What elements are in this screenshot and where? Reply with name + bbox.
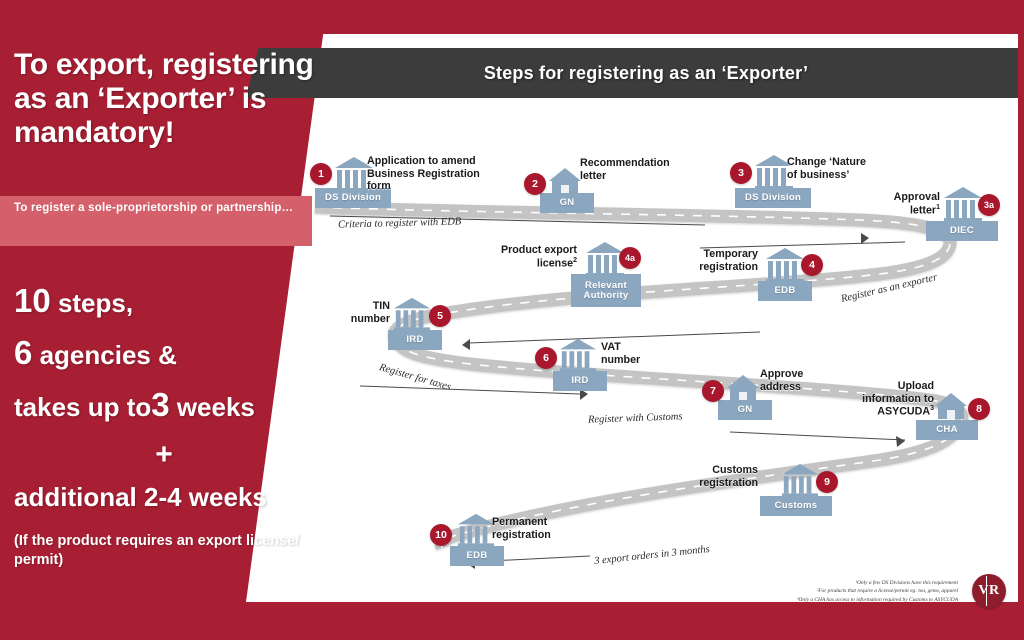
diagram-title-bar: Steps for registering as an ‘Exporter’	[246, 48, 1018, 98]
agency-box-customs: Customs	[760, 496, 832, 516]
agency-box-cha: CHA	[916, 420, 978, 440]
footnotes: ¹Only a few DS Divisions have this requi…	[797, 579, 958, 604]
step-badge-3a: 3a	[978, 194, 1000, 216]
step-badge-6: 6	[535, 347, 557, 369]
stats-block: 10 steps, 6 agencies & takes up to3 week…	[14, 282, 334, 527]
pink-band-text: To register a sole-proprietorship or par…	[14, 200, 304, 216]
step-label-6: VAT number	[601, 341, 661, 366]
step-badge-2: 2	[524, 173, 546, 195]
stat-agencies: 6 agencies &	[14, 334, 334, 372]
footnote-ref-3: 3	[930, 405, 934, 412]
footnote-2: ²For products that require a license/per…	[797, 587, 958, 595]
logo-divider	[986, 576, 987, 606]
step-badge-8: 8	[968, 398, 990, 420]
step-badge-7: 7	[702, 380, 724, 402]
step-label-3: Change ‘Nature of business’	[787, 156, 897, 181]
stat-agencies-number: 6	[14, 334, 32, 371]
stat-steps-number: 10	[14, 282, 51, 319]
house-icon	[934, 392, 968, 422]
step-label-9: Customs registration	[678, 464, 758, 489]
classical-building-icon	[780, 462, 820, 500]
step-label-4: Temporary registration	[680, 248, 758, 273]
page-title: Steps for registering as an ‘Exporter’	[484, 63, 808, 84]
left-red-panel: To export, registering as an ‘Exporter’ …	[0, 0, 330, 640]
step-label-3a: Approval letter1	[874, 191, 940, 217]
stat-duration-prefix: takes up to	[14, 392, 151, 422]
classical-building-icon	[456, 512, 496, 550]
vr-logo: VR	[972, 574, 1006, 608]
step-label-2: Recommendation letter	[580, 157, 690, 182]
agency-box-ird-6: IRD	[553, 371, 607, 391]
step-badge-9: 9	[816, 471, 838, 493]
step-label-5: TIN number	[332, 300, 390, 325]
agency-box-ds-division-3: DS Division	[735, 188, 811, 208]
agency-box-edb-10: EDB	[450, 546, 504, 566]
stat-steps-word: steps,	[51, 288, 133, 318]
step-badge-5: 5	[429, 305, 451, 327]
step-label-4a: Product export license2	[485, 244, 577, 270]
footnote-ref-2: 2	[573, 257, 577, 264]
footnote-3: ³Only a CHA has access to information re…	[797, 596, 958, 604]
step-badge-4: 4	[801, 254, 823, 276]
step-badge-3: 3	[730, 162, 752, 184]
agency-box-diec: DIEC	[926, 221, 998, 241]
classical-building-icon	[392, 296, 432, 334]
agency-box-edb-4: EDB	[758, 281, 812, 301]
headline: To export, registering as an ‘Exporter’ …	[14, 48, 314, 151]
step-label-1: Application to amend Business Registrati…	[367, 155, 487, 193]
fineprint: (If the product requires an export licen…	[14, 532, 324, 570]
step-badge-4a: 4a	[619, 247, 641, 269]
agency-box-gn-7: GN	[718, 400, 772, 420]
stat-additional: additional 2-4 weeks	[14, 482, 334, 513]
step-label-10: Permanent registration	[492, 516, 576, 541]
stat-agencies-word: agencies &	[32, 340, 177, 370]
agency-box-ird-5: IRD	[388, 330, 442, 350]
classical-building-icon	[558, 337, 598, 375]
classical-building-icon	[764, 246, 806, 286]
footnote-1: ¹Only a few DS Divisions have this requi…	[797, 579, 958, 587]
step-label-7: Approve address	[760, 368, 830, 393]
step-label-8: Upload information to ASYCUDA3	[838, 380, 934, 418]
agency-box-relevant-authority: Relevant Authority	[571, 274, 641, 307]
step-badge-10: 10	[430, 524, 452, 546]
stat-duration-number: 3	[151, 386, 169, 423]
stat-duration: takes up to3 weeks	[14, 386, 334, 424]
logo-text: VR	[978, 583, 999, 599]
agency-box-gn-2: GN	[540, 193, 594, 213]
stat-duration-word: weeks	[170, 392, 255, 422]
stat-steps: 10 steps,	[14, 282, 334, 320]
footnote-ref-1: 1	[936, 204, 940, 211]
stat-plus: +	[14, 438, 314, 472]
